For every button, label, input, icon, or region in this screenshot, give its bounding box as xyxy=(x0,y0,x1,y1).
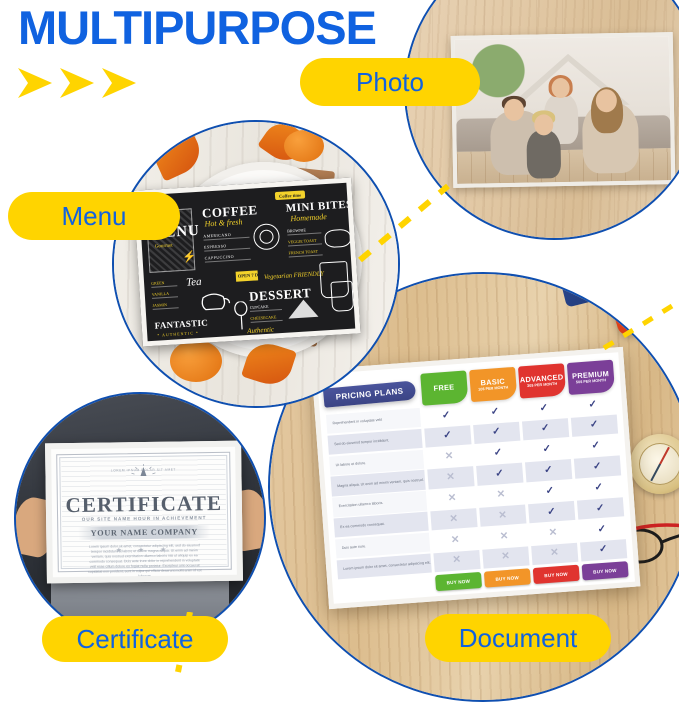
cross-icon: ✕ xyxy=(548,528,557,539)
tier-price: 10$ PER MONTH xyxy=(478,386,508,392)
cross-icon: ✕ xyxy=(550,549,559,560)
feature-cell: ✓ xyxy=(578,518,626,541)
pricing-table-body: Reprehenderit in voluptate velit✓✓✓✓Sed … xyxy=(326,394,627,580)
feature-cell: ✕ xyxy=(425,446,473,469)
tier-header: PREMIUM 50$ PER MONTH xyxy=(566,360,615,395)
cross-icon: ✕ xyxy=(497,490,506,501)
check-icon: ✓ xyxy=(495,469,504,480)
check-icon: ✓ xyxy=(596,503,605,514)
feature-cell: ✕ xyxy=(529,522,577,545)
menu-subheading-coffee: Hot & fresh xyxy=(204,217,242,228)
tier-price: 30$ PER MONTH xyxy=(527,382,557,388)
feature-cell: ✓ xyxy=(525,459,573,482)
cross-icon: ✕ xyxy=(449,514,458,525)
cross-icon: ✕ xyxy=(448,493,457,504)
cake-slice-icon xyxy=(285,295,321,323)
menu-badge-open: OPEN 7 DAYS A WEEK xyxy=(236,270,259,281)
chevron-right-icon xyxy=(16,66,54,100)
feature-cell: ✓ xyxy=(521,418,569,441)
feature-cell: ✕ xyxy=(427,467,475,490)
tier-header: BASIC 10$ PER MONTH xyxy=(469,367,518,402)
collage-canvas: MULTIPURPOSE xyxy=(0,0,679,676)
tier-header: FREE xyxy=(420,370,469,405)
buy-now-button[interactable]: BUY NOW xyxy=(532,565,580,584)
feature-cell: ✓ xyxy=(572,435,620,458)
menu-footer-authentic-small: * AUTHENTIC * xyxy=(157,330,199,338)
check-icon: ✓ xyxy=(490,407,499,418)
tier-name: FREE xyxy=(433,383,454,392)
feature-cell: ✓ xyxy=(576,497,624,520)
teapot-icon xyxy=(197,286,233,314)
cross-icon: ✕ xyxy=(446,473,455,484)
feature-cell: ✓ xyxy=(476,463,524,486)
feature-cell: ✕ xyxy=(479,505,527,528)
menu-subheading-bites: Homemade xyxy=(290,212,327,223)
feature-cell: ✕ xyxy=(430,508,478,531)
buy-now-button[interactable]: BUY NOW xyxy=(435,572,483,591)
feature-cell: ✓ xyxy=(523,439,571,462)
cross-icon: ✕ xyxy=(452,556,461,567)
feature-cell: ✕ xyxy=(431,529,479,552)
menu-item: JASMIN xyxy=(152,302,167,308)
cross-icon: ✕ xyxy=(445,452,454,463)
feature-cell: ✕ xyxy=(433,550,481,573)
certificate-name-line: YOUR NAME COMPANY xyxy=(78,525,210,540)
certificate-document: LOREM IPSUM DOLAR SIT AMET CERTIFICATE O… xyxy=(45,441,243,584)
feature-cell: ✓ xyxy=(474,442,522,465)
label-document[interactable]: Document xyxy=(425,614,611,662)
check-icon: ✓ xyxy=(547,507,556,518)
family-photo-image xyxy=(455,36,671,184)
certificate-showcase-circle: LOREM IPSUM DOLAR SIT AMET CERTIFICATE O… xyxy=(14,392,266,644)
feature-cell: ✓ xyxy=(526,480,574,503)
menu-heading-tea: Tea xyxy=(186,276,202,289)
feature-cell: ✓ xyxy=(471,401,519,424)
cross-icon: ✕ xyxy=(500,531,509,542)
feature-cell: ✕ xyxy=(477,484,525,507)
lightning-icon: ⚡ xyxy=(182,250,196,264)
feature-cell: ✓ xyxy=(520,397,568,420)
check-icon: ✓ xyxy=(442,410,451,421)
label-photo[interactable]: Photo xyxy=(300,58,480,106)
feature-cell: ✓ xyxy=(424,425,472,448)
feature-cell: ✓ xyxy=(573,456,621,479)
cross-icon: ✕ xyxy=(501,552,510,563)
family-photo-print xyxy=(451,32,676,188)
check-icon: ✓ xyxy=(590,420,599,431)
chevron-right-icon xyxy=(100,66,138,100)
cross-icon: ✕ xyxy=(451,535,460,546)
dashed-connector xyxy=(602,300,679,360)
feature-cell: ✓ xyxy=(473,422,521,445)
feature-cell: ✕ xyxy=(482,546,530,569)
check-icon: ✓ xyxy=(593,462,602,473)
tier-header: ADVANCED 30$ PER MONTH xyxy=(517,363,566,398)
label-menu[interactable]: Menu xyxy=(8,192,180,240)
buy-now-button[interactable]: BUY NOW xyxy=(581,561,629,580)
triple-chevron-right-icon xyxy=(16,66,138,100)
check-icon: ✓ xyxy=(597,524,606,535)
check-icon: ✓ xyxy=(493,448,502,459)
check-icon: ✓ xyxy=(544,465,553,476)
feature-cell: ✕ xyxy=(480,525,528,548)
feature-cell: ✓ xyxy=(422,404,470,427)
check-icon: ✓ xyxy=(588,400,597,411)
menu-footer-script: Authentic xyxy=(247,325,274,335)
feature-cell: ✕ xyxy=(531,542,579,565)
menu-footer-fantastic: FANTASTIC xyxy=(154,318,208,331)
buy-now-button[interactable]: BUY NOW xyxy=(483,568,531,587)
check-icon: ✓ xyxy=(594,483,603,494)
menu-item: GREEN xyxy=(151,280,165,286)
dashed-connector xyxy=(352,160,462,270)
feature-cell: ✓ xyxy=(528,501,576,524)
certificate-scene: LOREM IPSUM DOLAR SIT AMET CERTIFICATE O… xyxy=(16,394,264,642)
compass-decoration xyxy=(630,434,679,494)
check-icon: ✓ xyxy=(539,403,548,414)
check-icon: ✓ xyxy=(599,545,608,556)
tier-price: 50$ PER MONTH xyxy=(576,379,606,385)
label-certificate[interactable]: Certificate xyxy=(42,616,228,662)
check-icon: ✓ xyxy=(541,424,550,435)
feature-cell: ✓ xyxy=(575,477,623,500)
chevron-right-icon xyxy=(58,66,96,100)
page-title: MULTIPURPOSE xyxy=(18,4,376,51)
check-icon: ✓ xyxy=(443,431,452,442)
cross-icon: ✕ xyxy=(498,511,507,522)
check-icon: ✓ xyxy=(492,428,501,439)
menu-tag-coffee-time: Coffee time xyxy=(275,190,306,200)
feature-cell: ✓ xyxy=(569,394,617,417)
check-icon: ✓ xyxy=(542,445,551,456)
feature-cell: ✕ xyxy=(428,487,476,510)
check-icon: ✓ xyxy=(545,486,554,497)
feature-cell: ✓ xyxy=(570,414,618,437)
feature-cell: ✓ xyxy=(579,539,627,562)
certificate-crest-icon xyxy=(128,464,158,482)
check-icon: ✓ xyxy=(591,441,600,452)
